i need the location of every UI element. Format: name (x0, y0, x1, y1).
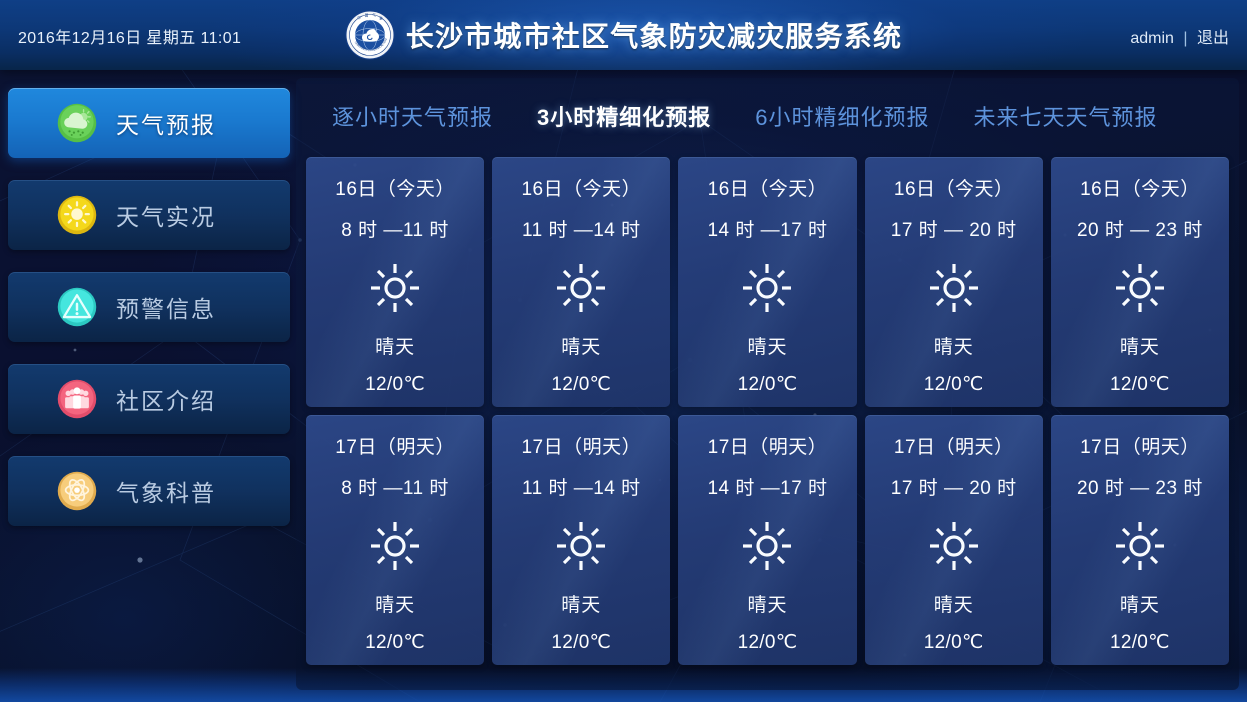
sun-icon (555, 262, 607, 314)
card-time-range: 20 时 — 23 时 (1077, 473, 1203, 500)
forecast-card[interactable]: 16日（今天） 20 时 — 23 时 晴天 12/0℃ (1051, 157, 1229, 407)
sidebar-item-label: 社区介绍 (116, 382, 216, 416)
sun-icon (741, 262, 793, 314)
cloud-rain-icon (56, 102, 98, 144)
sidebar-item-live-weather[interactable]: 天气实况 (8, 180, 290, 250)
card-time-range: 14 时 —17 时 (707, 473, 827, 500)
sidebar-item-weather-forecast[interactable]: 天气预报 (8, 88, 290, 158)
username-label[interactable]: admin (1130, 30, 1174, 47)
card-time-range: 17 时 — 20 时 (891, 215, 1017, 242)
header-user-area: admin | 退出 (1130, 24, 1229, 48)
forecast-card[interactable]: 16日（今天） 11 时 —14 时 晴天 12/0℃ (492, 157, 670, 407)
card-temperature: 12/0℃ (365, 373, 425, 396)
svg-text:中: 中 (357, 15, 361, 20)
atom-icon (56, 470, 98, 512)
tab-3hour-forecast[interactable]: 3小时精细化预报 (515, 100, 733, 132)
page-title: 长沙市城市社区气象防灾减灾服务系统 (406, 15, 902, 55)
sidebar-item-alert-info[interactable]: 预警信息 (8, 272, 290, 342)
forecast-card[interactable]: 17日（明天） 17 时 — 20 时 晴天 12/0℃ (865, 415, 1043, 665)
card-day-label: 16日（今天） (1080, 174, 1200, 201)
card-time-range: 8 时 —11 时 (341, 215, 449, 242)
forecast-card[interactable]: 17日（明天） 14 时 —17 时 晴天 12/0℃ (678, 415, 856, 665)
card-day-label: 17日（明天） (335, 432, 455, 459)
card-day-label: 16日（今天） (894, 174, 1014, 201)
forecast-card[interactable]: 17日（明天） 11 时 —14 时 晴天 12/0℃ (492, 415, 670, 665)
forecast-card-grid: 16日（今天） 8 时 —11 时 晴天 12/0℃ 16日（今天） 11 时 … (306, 157, 1229, 665)
svg-text:气: 气 (372, 13, 376, 18)
card-temperature: 12/0℃ (924, 631, 984, 654)
forecast-tab-bar: 逐小时天气预报 3小时精细化预报 6小时精细化预报 未来七天天气预报 (296, 90, 1239, 142)
svg-text:国: 国 (365, 13, 369, 18)
card-condition: 晴天 (561, 332, 601, 359)
card-time-range: 20 时 — 23 时 (1077, 215, 1203, 242)
card-day-label: 16日（今天） (335, 174, 455, 201)
sidebar-item-weather-science[interactable]: 气象科普 (8, 456, 290, 526)
card-temperature: 12/0℃ (1110, 631, 1170, 654)
card-time-range: 11 时 —14 时 (522, 473, 641, 500)
card-temperature: 12/0℃ (551, 373, 611, 396)
card-day-label: 16日（今天） (708, 174, 828, 201)
card-condition: 晴天 (1120, 332, 1160, 359)
sun-icon (555, 520, 607, 572)
tab-seven-day-forecast[interactable]: 未来七天天气预报 (952, 100, 1180, 132)
card-condition: 晴天 (934, 332, 974, 359)
card-time-range: 11 时 —14 时 (522, 215, 641, 242)
card-condition: 晴天 (747, 332, 787, 359)
card-day-label: 16日（今天） (521, 174, 641, 201)
sun-icon (1114, 262, 1166, 314)
tab-6hour-forecast[interactable]: 6小时精细化预报 (733, 100, 951, 132)
sun-icon (56, 194, 98, 236)
sun-icon (928, 262, 980, 314)
sun-icon (928, 520, 980, 572)
card-temperature: 12/0℃ (1110, 373, 1170, 396)
card-day-label: 17日（明天） (1080, 432, 1200, 459)
sun-icon (1114, 520, 1166, 572)
forecast-card[interactable]: 17日（明天） 20 时 — 23 时 晴天 12/0℃ (1051, 415, 1229, 665)
sidebar-item-label: 天气预报 (116, 106, 216, 140)
app-header: 2016年12月16日 星期五 11:01 中国 气象 (0, 0, 1247, 70)
card-time-range: 17 时 — 20 时 (891, 473, 1017, 500)
card-day-label: 17日（明天） (708, 432, 828, 459)
forecast-card[interactable]: 16日（今天） 17 时 — 20 时 晴天 12/0℃ (865, 157, 1043, 407)
forecast-card[interactable]: 16日（今天） 8 时 —11 时 晴天 12/0℃ (306, 157, 484, 407)
header-brand: 中国 气象 CHINA METEOROLOGICAL ADMINISTRATIO… (0, 6, 1247, 64)
sun-icon (369, 262, 421, 314)
card-temperature: 12/0℃ (924, 373, 984, 396)
card-temperature: 12/0℃ (551, 631, 611, 654)
card-day-label: 17日（明天） (521, 432, 641, 459)
card-temperature: 12/0℃ (738, 373, 798, 396)
sidebar-item-label: 气象科普 (116, 474, 216, 508)
sidebar-nav: 天气预报 天气实况 (8, 88, 290, 526)
people-group-icon (56, 378, 98, 420)
card-condition: 晴天 (375, 590, 415, 617)
card-temperature: 12/0℃ (365, 631, 425, 654)
warning-triangle-icon (56, 286, 98, 328)
sidebar-item-community-intro[interactable]: 社区介绍 (8, 364, 290, 434)
card-time-range: 14 时 —17 时 (707, 215, 827, 242)
card-condition: 晴天 (1120, 590, 1160, 617)
forecast-card[interactable]: 16日（今天） 14 时 —17 时 晴天 12/0℃ (678, 157, 856, 407)
card-condition: 晴天 (375, 332, 415, 359)
sun-icon (369, 520, 421, 572)
sidebar-item-label: 天气实况 (116, 198, 216, 232)
sidebar-item-label: 预警信息 (116, 290, 216, 324)
content-panel: 逐小时天气预报 3小时精细化预报 6小时精细化预报 未来七天天气预报 16日（今… (296, 78, 1239, 690)
card-time-range: 8 时 —11 时 (341, 473, 449, 500)
card-condition: 晴天 (561, 590, 601, 617)
card-condition: 晴天 (747, 590, 787, 617)
tab-hourly-forecast[interactable]: 逐小时天气预报 (310, 100, 515, 132)
card-day-label: 17日（明天） (894, 432, 1014, 459)
sun-icon (741, 520, 793, 572)
user-separator: | (1183, 30, 1187, 47)
app-root: 2016年12月16日 星期五 11:01 中国 气象 (0, 0, 1247, 702)
card-condition: 晴天 (934, 590, 974, 617)
svg-text:象: 象 (379, 16, 383, 21)
logout-button[interactable]: 退出 (1197, 30, 1229, 47)
cma-cloud-logo-icon: 中国 气象 CHINA METEOROLOGICAL ADMINISTRATIO… (345, 10, 395, 60)
forecast-card[interactable]: 17日（明天） 8 时 —11 时 晴天 12/0℃ (306, 415, 484, 665)
card-temperature: 12/0℃ (738, 631, 798, 654)
